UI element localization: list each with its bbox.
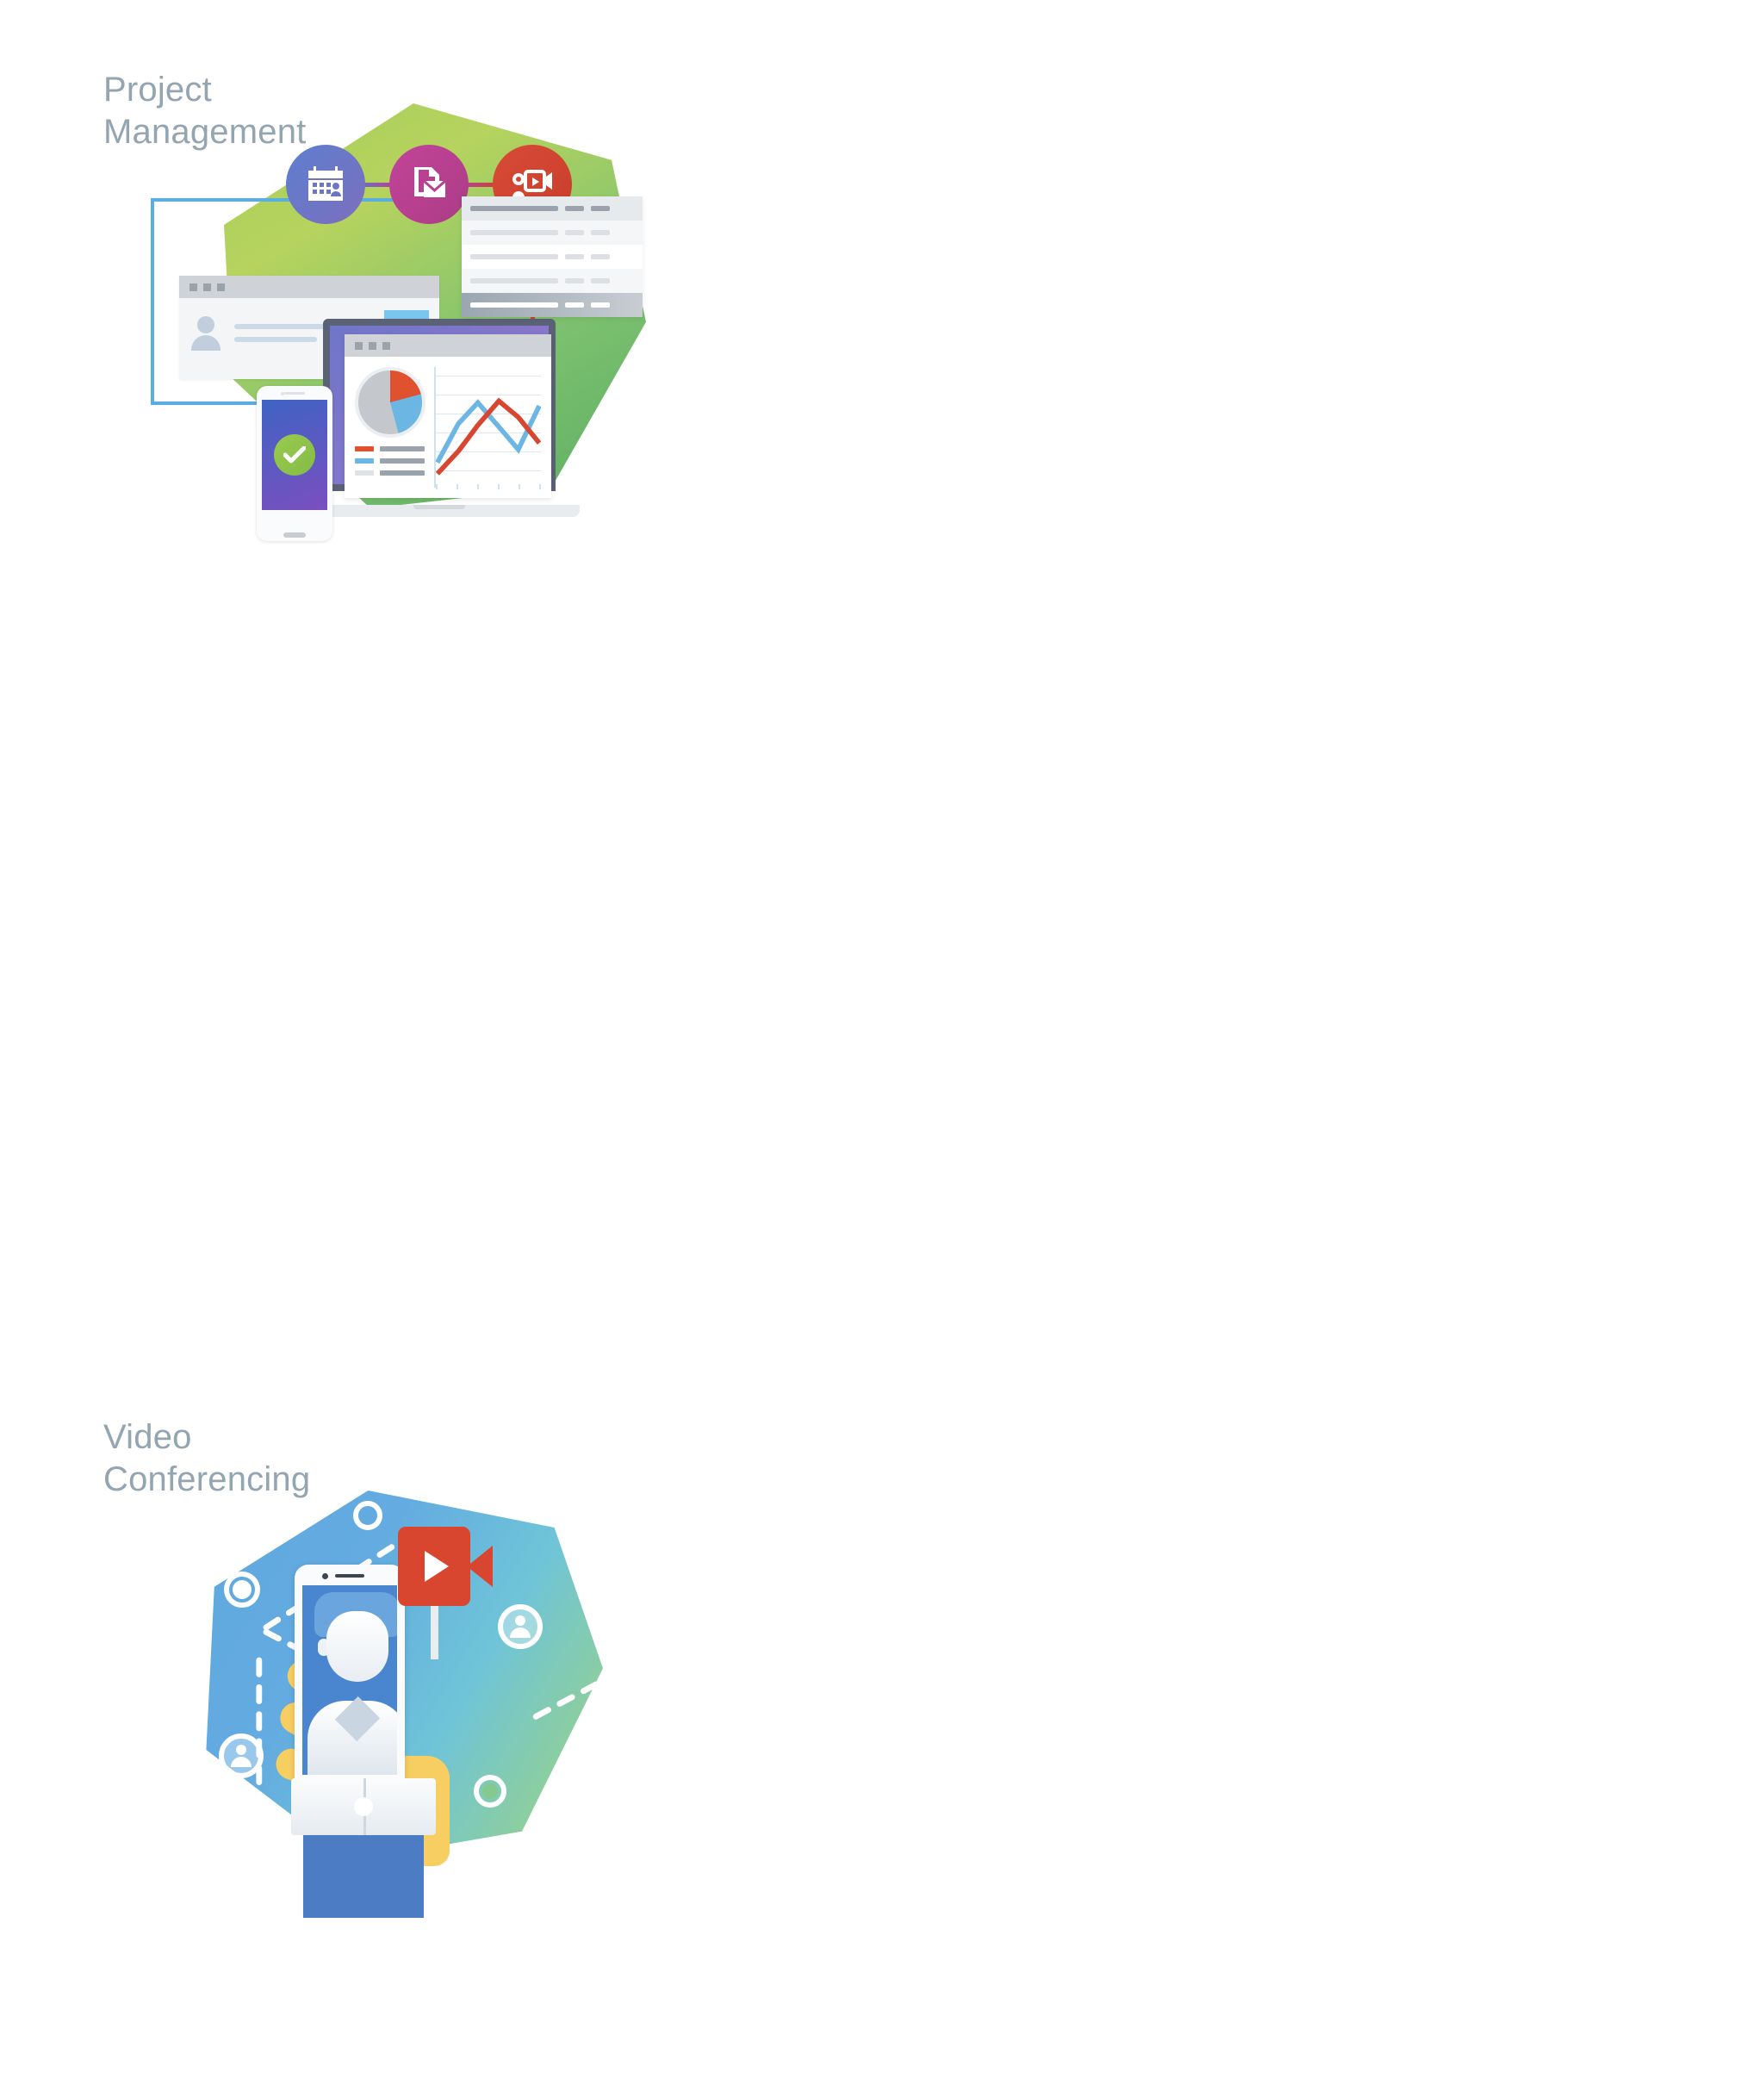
table-row[interactable] xyxy=(462,196,643,221)
illustration-video-conferencing xyxy=(198,1482,749,2085)
card-title-project-management: Project Management xyxy=(103,69,306,153)
phone-screen xyxy=(302,1585,397,1775)
smartphone-device xyxy=(257,386,332,541)
node-document-mail[interactable] xyxy=(389,145,469,224)
avatar xyxy=(189,316,222,349)
play-icon xyxy=(425,1551,449,1582)
laptop-device xyxy=(291,1778,436,1916)
titlebar-dot xyxy=(189,283,197,291)
front-camera xyxy=(322,1573,328,1579)
laptop-base xyxy=(299,505,580,517)
document-mail-icon xyxy=(409,165,449,204)
task-complete-check xyxy=(274,434,315,476)
network-node-left[interactable] xyxy=(224,1572,260,1608)
speaker-grille xyxy=(335,1574,364,1578)
user-icon xyxy=(230,1745,252,1767)
window-titlebar xyxy=(179,276,439,298)
network-node-bottom-left[interactable] xyxy=(219,1733,264,1778)
avatar-face xyxy=(326,1611,388,1682)
illustration-project-management xyxy=(198,103,767,655)
window-titlebar xyxy=(345,334,551,357)
table-row[interactable] xyxy=(462,245,643,269)
check-icon xyxy=(283,446,306,464)
table-row[interactable] xyxy=(462,269,643,293)
home-button[interactable] xyxy=(283,532,306,538)
network-node-top[interactable] xyxy=(353,1501,382,1530)
laptop-keyboard xyxy=(291,1778,436,1835)
card-project-management: Project Management xyxy=(0,0,882,706)
x-axis-ticks xyxy=(436,484,541,489)
titlebar-dot xyxy=(203,283,211,291)
network-node-right[interactable] xyxy=(498,1604,543,1649)
video-camera-icon[interactable] xyxy=(398,1527,493,1606)
analytics-dashboard-window xyxy=(345,334,551,498)
pie-chart xyxy=(355,367,425,438)
phone-screen xyxy=(262,400,327,510)
user-icon xyxy=(509,1615,531,1638)
node-calendar[interactable] xyxy=(286,145,365,224)
task-list-window xyxy=(462,196,643,317)
table-row-selected[interactable] xyxy=(462,293,643,317)
card-title-video-conferencing: Video Conferencing xyxy=(103,1416,310,1501)
calendar-icon xyxy=(306,165,345,203)
network-node-bottom-right[interactable] xyxy=(474,1775,506,1808)
line-chart xyxy=(434,367,541,488)
table-row[interactable] xyxy=(462,221,643,245)
icon-set-grid: Project Management xyxy=(0,0,1764,1412)
forearm xyxy=(303,1835,424,1918)
titlebar-dot xyxy=(217,283,225,291)
camera-pole xyxy=(431,1603,438,1659)
trackpad[interactable] xyxy=(354,1797,373,1816)
card-business-data-security: Business Data Security xyxy=(882,0,1764,706)
card-video-conferencing: Video Conferencing xyxy=(0,706,882,1412)
line-series xyxy=(436,367,541,480)
chart-content xyxy=(345,357,551,498)
chart-legend xyxy=(355,446,425,476)
smartphone-device xyxy=(295,1565,405,1794)
card-business-live-streaming: Business Live Streaming xyxy=(882,706,1764,1412)
camera-lens xyxy=(467,1546,493,1587)
speaker-grille xyxy=(284,392,305,395)
